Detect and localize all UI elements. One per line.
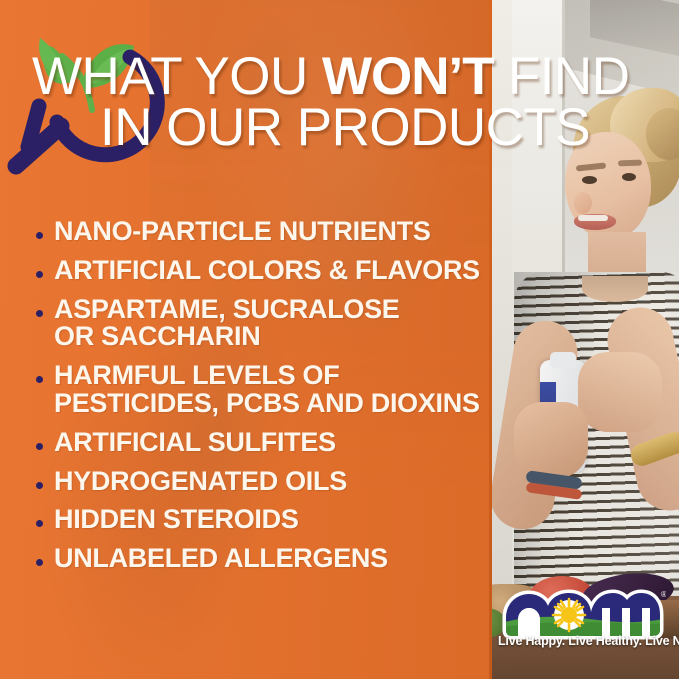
registered-trademark-icon: ® [661, 590, 666, 599]
list-item-label: HARMFUL LEVELS OF PESTICIDES, PCBS AND D… [54, 362, 480, 418]
list-item-line-1: HARMFUL LEVELS OF [54, 360, 339, 390]
list-item-label: UNLABELED ALLERGENS [54, 545, 388, 573]
list-item-label: NANO-PARTICLE NUTRIENTS [54, 218, 431, 246]
list-item: HIDDEN STEROIDS [36, 506, 488, 534]
bullet-dot-icon [36, 482, 43, 489]
list-item: ARTIFICIAL SULFITES [36, 429, 488, 457]
exclusions-list: NANO-PARTICLE NUTRIENTS ARTIFICIAL COLOR… [36, 218, 488, 584]
bullet-dot-icon [36, 443, 43, 450]
list-item: ASPARTAME, SUCRALOSE OR SACCHARIN [36, 296, 488, 352]
list-item-line-1: ASPARTAME, SUCRALOSE [54, 294, 400, 324]
list-item-line-1: HIDDEN STEROIDS [54, 504, 299, 534]
list-item-line-1: HYDROGENATED OILS [54, 466, 347, 496]
list-item-line-2: OR SACCHARIN [54, 323, 400, 351]
bullet-dot-icon [36, 271, 43, 278]
list-item-label: HYDROGENATED OILS [54, 468, 347, 496]
brand-tagline: Live Happy. Live Healthy. Live NOW. [498, 634, 666, 648]
list-item-line-1: ARTIFICIAL COLORS & FLAVORS [54, 255, 480, 285]
list-item-line-1: UNLABELED ALLERGENS [54, 543, 388, 573]
headline-part-2: FIND [494, 47, 630, 106]
list-item-label: ARTIFICIAL SULFITES [54, 429, 336, 457]
headline-line-2: IN OUR PRODUCTS [100, 103, 672, 152]
now-brand-logo: ® Live Happy. Live Healthy. Live NOW. [498, 584, 666, 656]
list-item-label: ASPARTAME, SUCRALOSE OR SACCHARIN [54, 296, 400, 352]
bullet-dot-icon [36, 310, 43, 317]
list-item-label: HIDDEN STEROIDS [54, 506, 299, 534]
bullet-dot-icon [36, 559, 43, 566]
list-item: NANO-PARTICLE NUTRIENTS [36, 218, 488, 246]
list-item: HYDROGENATED OILS [36, 468, 488, 496]
list-item-label: ARTIFICIAL COLORS & FLAVORS [54, 257, 480, 285]
bullet-dot-icon [36, 520, 43, 527]
list-item-line-1: NANO-PARTICLE NUTRIENTS [54, 216, 431, 246]
list-item: ARTIFICIAL COLORS & FLAVORS [36, 257, 488, 285]
bullet-dot-icon [36, 232, 43, 239]
poster: WHAT YOU WON’T FIND IN OUR PRODUCTS NANO… [0, 0, 679, 679]
headline-emphasis: WON’T [322, 47, 494, 106]
list-item: HARMFUL LEVELS OF PESTICIDES, PCBS AND D… [36, 362, 488, 418]
page-title: WHAT YOU WON’T FIND IN OUR PRODUCTS [32, 52, 672, 153]
list-item-line-2: PESTICIDES, PCBS AND DIOXINS [54, 390, 480, 418]
list-item-line-1: ARTIFICIAL SULFITES [54, 427, 336, 457]
headline-part-1: WHAT YOU [32, 47, 322, 106]
list-item: UNLABELED ALLERGENS [36, 545, 488, 573]
bullet-dot-icon [36, 376, 43, 383]
